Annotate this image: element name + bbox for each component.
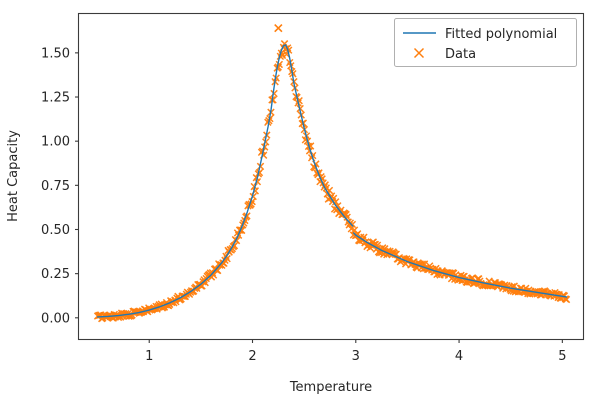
legend-label-fit: Fitted polynomial (445, 27, 557, 42)
y-tick-label: 1.25 (41, 91, 70, 106)
x-axis-title: Temperature (289, 380, 372, 395)
chart-figure: 12345 0.000.250.500.751.001.251.50 Tempe… (0, 0, 601, 405)
y-tick-label: 0.75 (41, 179, 70, 194)
x-tick-label: 5 (558, 349, 566, 364)
x-tick-label: 4 (455, 349, 463, 364)
legend-box (395, 19, 577, 67)
y-tick-label: 1.00 (41, 135, 70, 150)
x-tick-label: 2 (248, 349, 256, 364)
y-tick-label: 0.25 (41, 267, 70, 282)
heat-capacity-plot: 12345 0.000.250.500.751.001.251.50 Tempe… (0, 0, 601, 405)
legend-label-data: Data (445, 47, 476, 62)
y-tick-label: 1.50 (41, 46, 70, 61)
y-tick-label: 0.00 (41, 311, 70, 326)
y-axis-title: Heat Capacity (6, 130, 21, 222)
x-tick-label: 3 (352, 349, 360, 364)
y-tick-label: 0.50 (41, 223, 70, 238)
chart-legend: Fitted polynomial Data (395, 19, 577, 67)
x-tick-label: 1 (145, 349, 153, 364)
